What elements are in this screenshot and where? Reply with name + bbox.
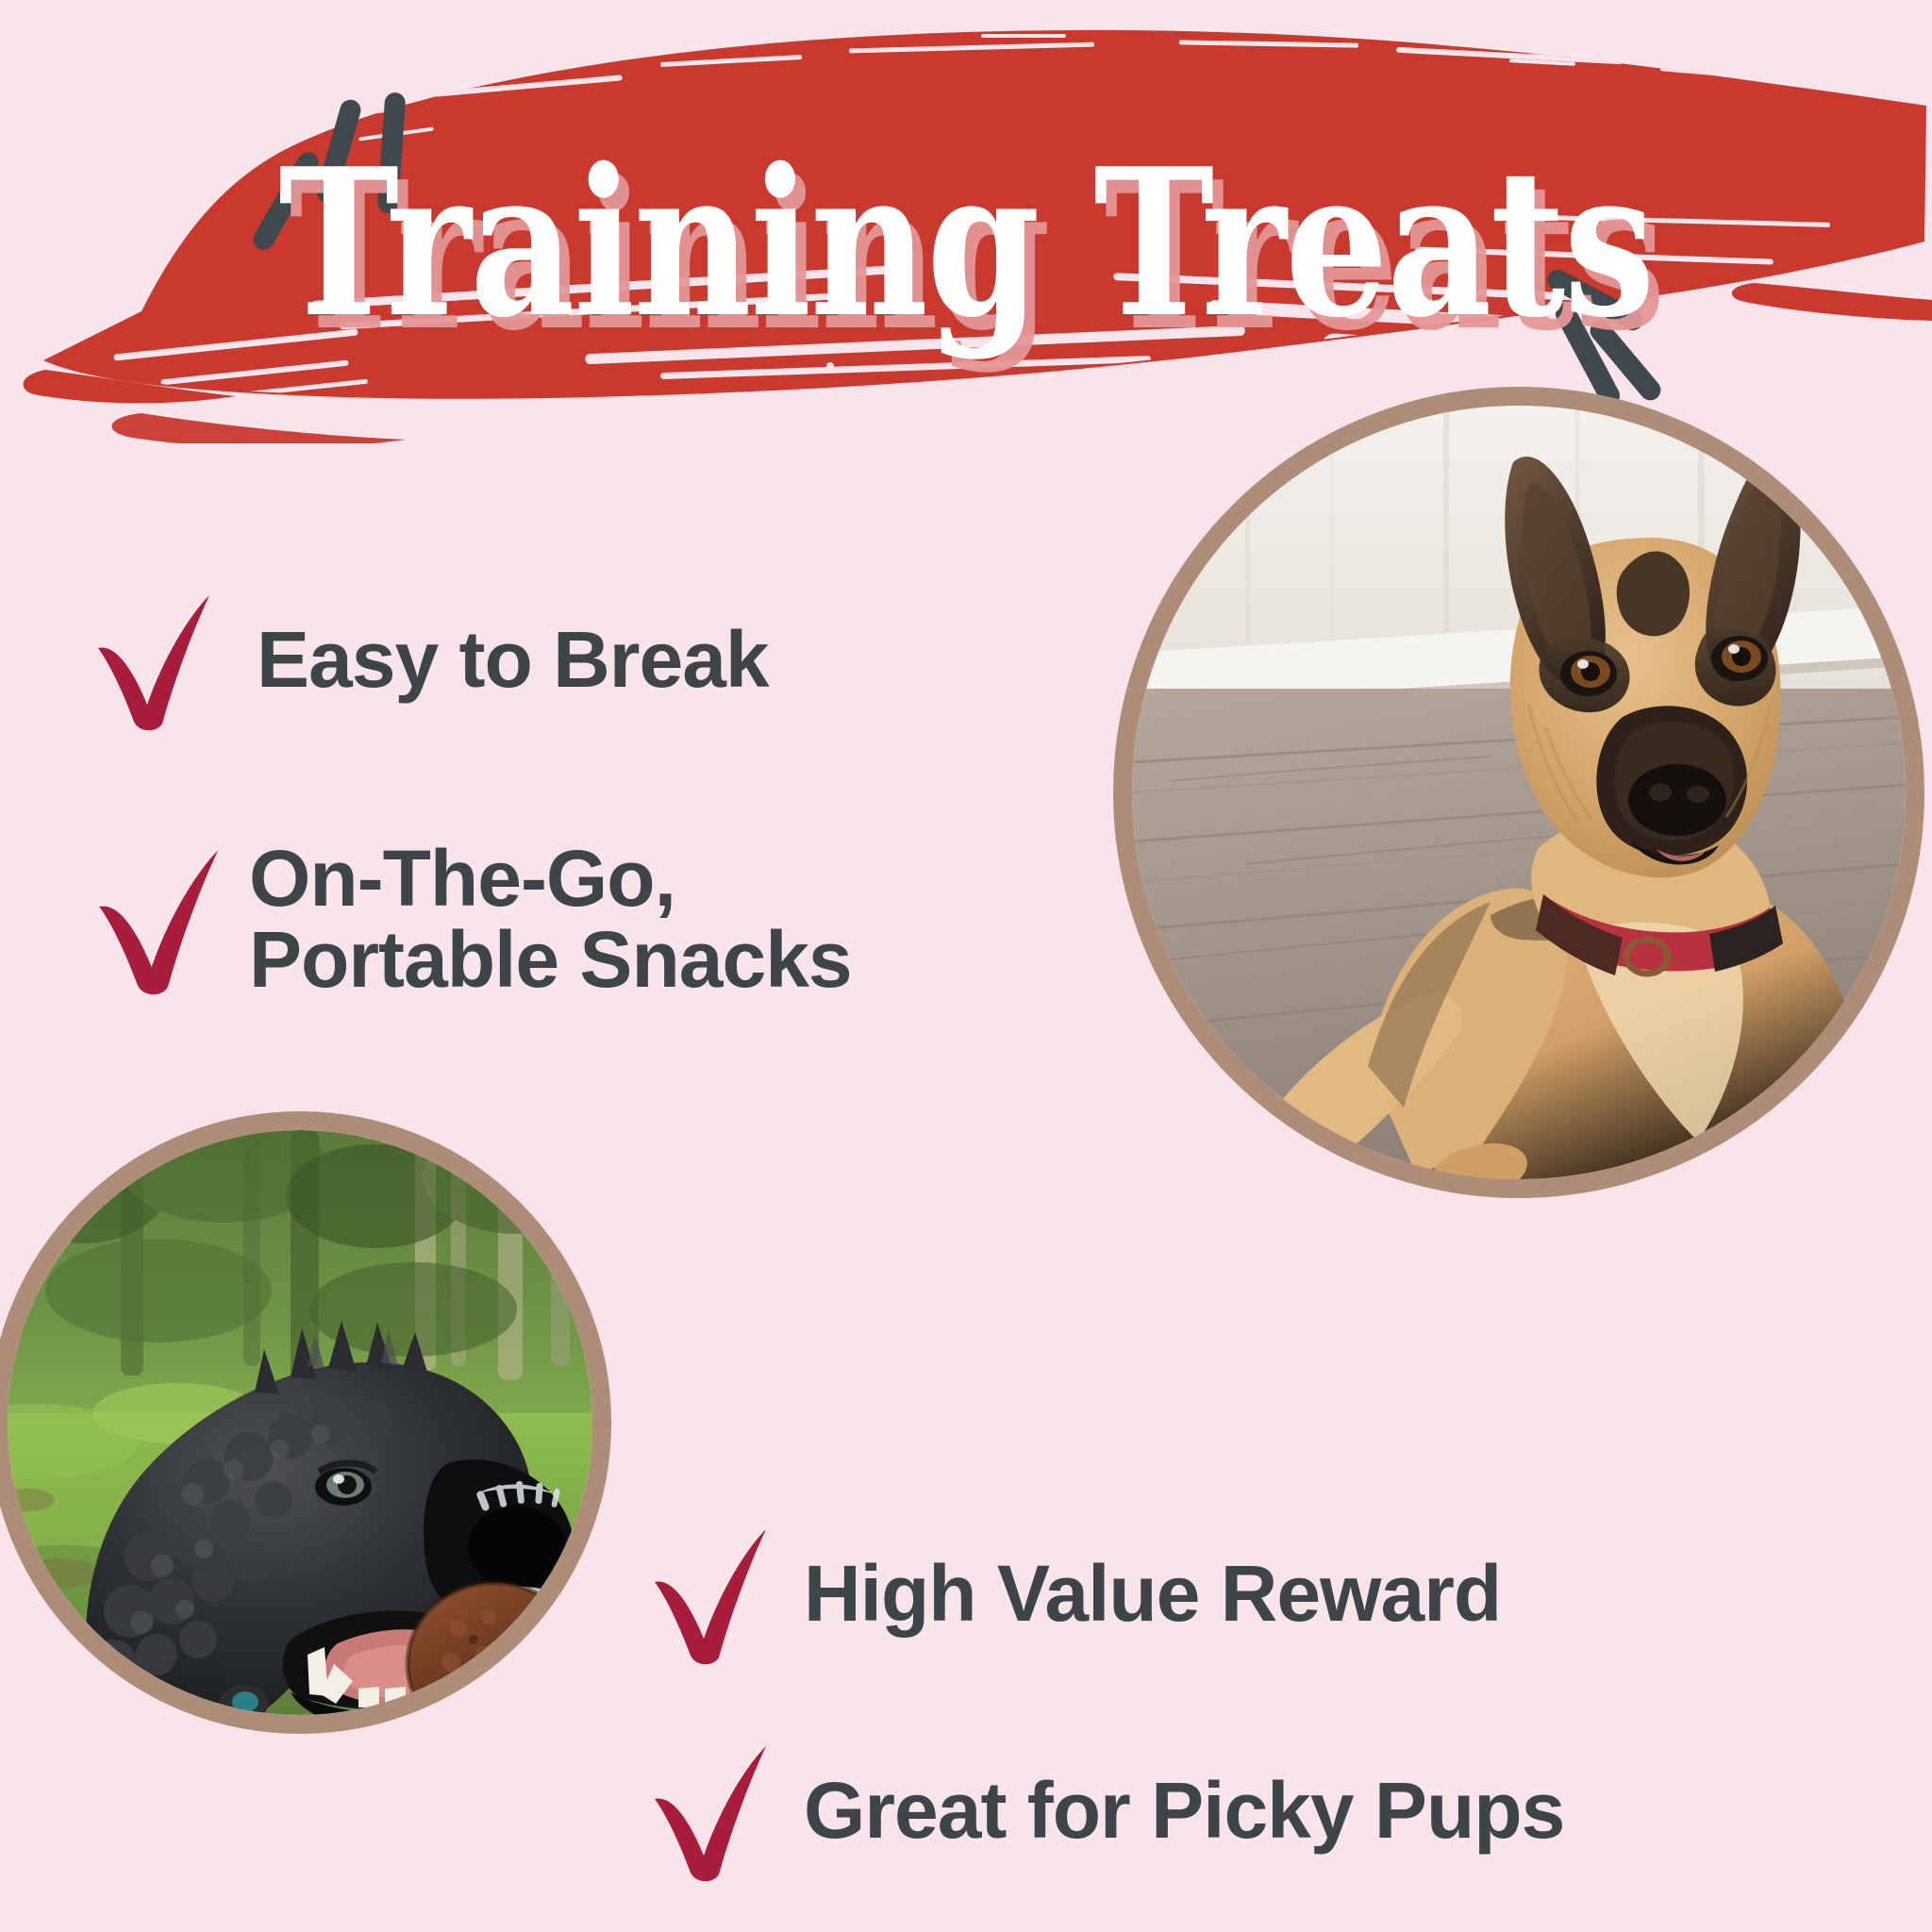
black-doodle-illustration: [8, 1130, 592, 1715]
checkmark-icon: [641, 1740, 774, 1882]
german-shepherd-photo-content: [1132, 406, 1906, 1179]
feature-row-easy-to-break: Easy to Break: [85, 585, 962, 736]
black-doodle-photo-content: [8, 1130, 592, 1715]
german-shepherd-photo: [1113, 387, 1924, 1198]
poster-canvas: Training Treats Easy to Break On-The-Go,…: [0, 0, 1932, 1932]
feature-row-high-value-reward: High Value Reward: [641, 1519, 1924, 1670]
german-shepherd-illustration: [1132, 406, 1906, 1179]
black-doodle-photo: [0, 1111, 611, 1734]
page-title: Training Treats: [193, 142, 1739, 344]
feature-label-picky-pups: Great for Picky Pups: [804, 1771, 1564, 1852]
feature-label-high-value-reward: High Value Reward: [804, 1554, 1501, 1635]
feature-label-on-the-go: On-The-Go, Portable Snacks: [249, 839, 852, 1000]
feature-row-picky-pups: Great for Picky Pups: [641, 1736, 1932, 1887]
checkmark-icon: [85, 844, 226, 995]
checkmark-icon: [85, 590, 217, 731]
feature-label-easy-to-break: Easy to Break: [257, 620, 769, 701]
title-banner: Training Treats: [0, 0, 1932, 443]
feature-row-on-the-go: On-The-Go, Portable Snacks: [85, 811, 1038, 1028]
checkmark-icon: [641, 1524, 774, 1665]
